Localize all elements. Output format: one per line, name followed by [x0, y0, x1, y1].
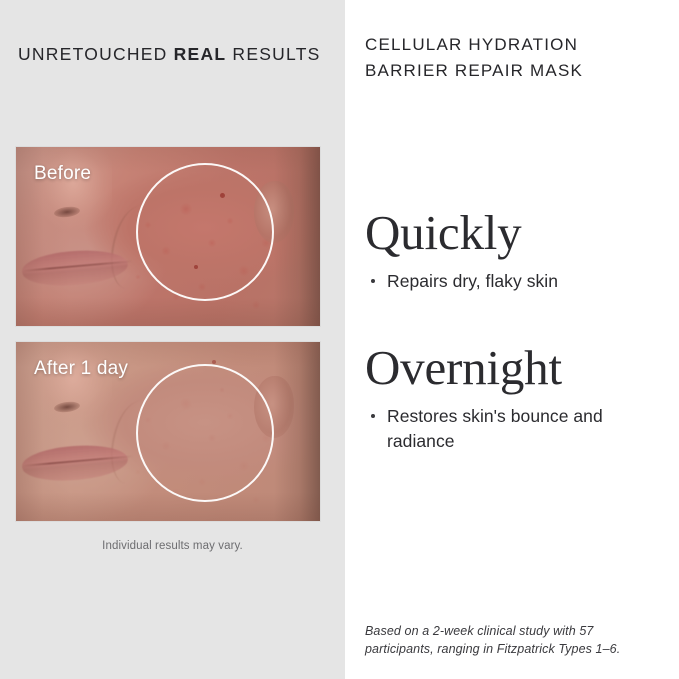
benefit-bullet-text: Restores skin's bounce and radiance: [387, 404, 619, 454]
highlight-circle: [136, 163, 274, 301]
eyebrow-prefix: UNRETOUCHED: [18, 44, 174, 64]
before-label: Before: [34, 163, 91, 185]
benefit-bullet-row: Repairs dry, flaky skin: [365, 269, 675, 294]
product-title-line-2: BARRIER REPAIR MASK: [365, 58, 675, 84]
bullet-dot-icon: [371, 414, 375, 418]
after-photo: After 1 day: [16, 342, 320, 521]
benefit-overnight: Overnight Restores skin's bounce and rad…: [365, 340, 675, 454]
eyebrow-suffix: RESULTS: [226, 44, 320, 64]
before-photo: Before: [16, 147, 320, 326]
product-title-line-1: CELLULAR HYDRATION: [365, 32, 675, 58]
benefit-bullet-row: Restores skin's bounce and radiance: [365, 404, 675, 454]
benefit-bullet-text: Repairs dry, flaky skin: [387, 269, 558, 294]
bullet-dot-icon: [371, 279, 375, 283]
benefit-heading: Overnight: [365, 340, 675, 396]
eyebrow-emphasis: REAL: [174, 44, 227, 64]
blemish-spot: [212, 360, 216, 364]
after-label: After 1 day: [34, 358, 128, 380]
product-info-panel: CELLULAR HYDRATION BARRIER REPAIR MASK Q…: [345, 0, 679, 679]
study-disclaimer: Based on a 2-week clinical study with 57…: [365, 622, 653, 658]
benefit-quickly: Quickly Repairs dry, flaky skin: [365, 205, 675, 294]
highlight-circle: [136, 364, 274, 502]
benefit-heading: Quickly: [365, 205, 675, 261]
product-ad-graphic: UNRETOUCHED REAL RESULTS Before: [0, 0, 679, 679]
eyebrow-heading: UNRETOUCHED REAL RESULTS: [18, 44, 333, 65]
product-title: CELLULAR HYDRATION BARRIER REPAIR MASK: [365, 32, 675, 84]
before-after-panel: UNRETOUCHED REAL RESULTS Before: [0, 0, 345, 679]
results-disclaimer: Individual results may vary.: [0, 540, 345, 552]
